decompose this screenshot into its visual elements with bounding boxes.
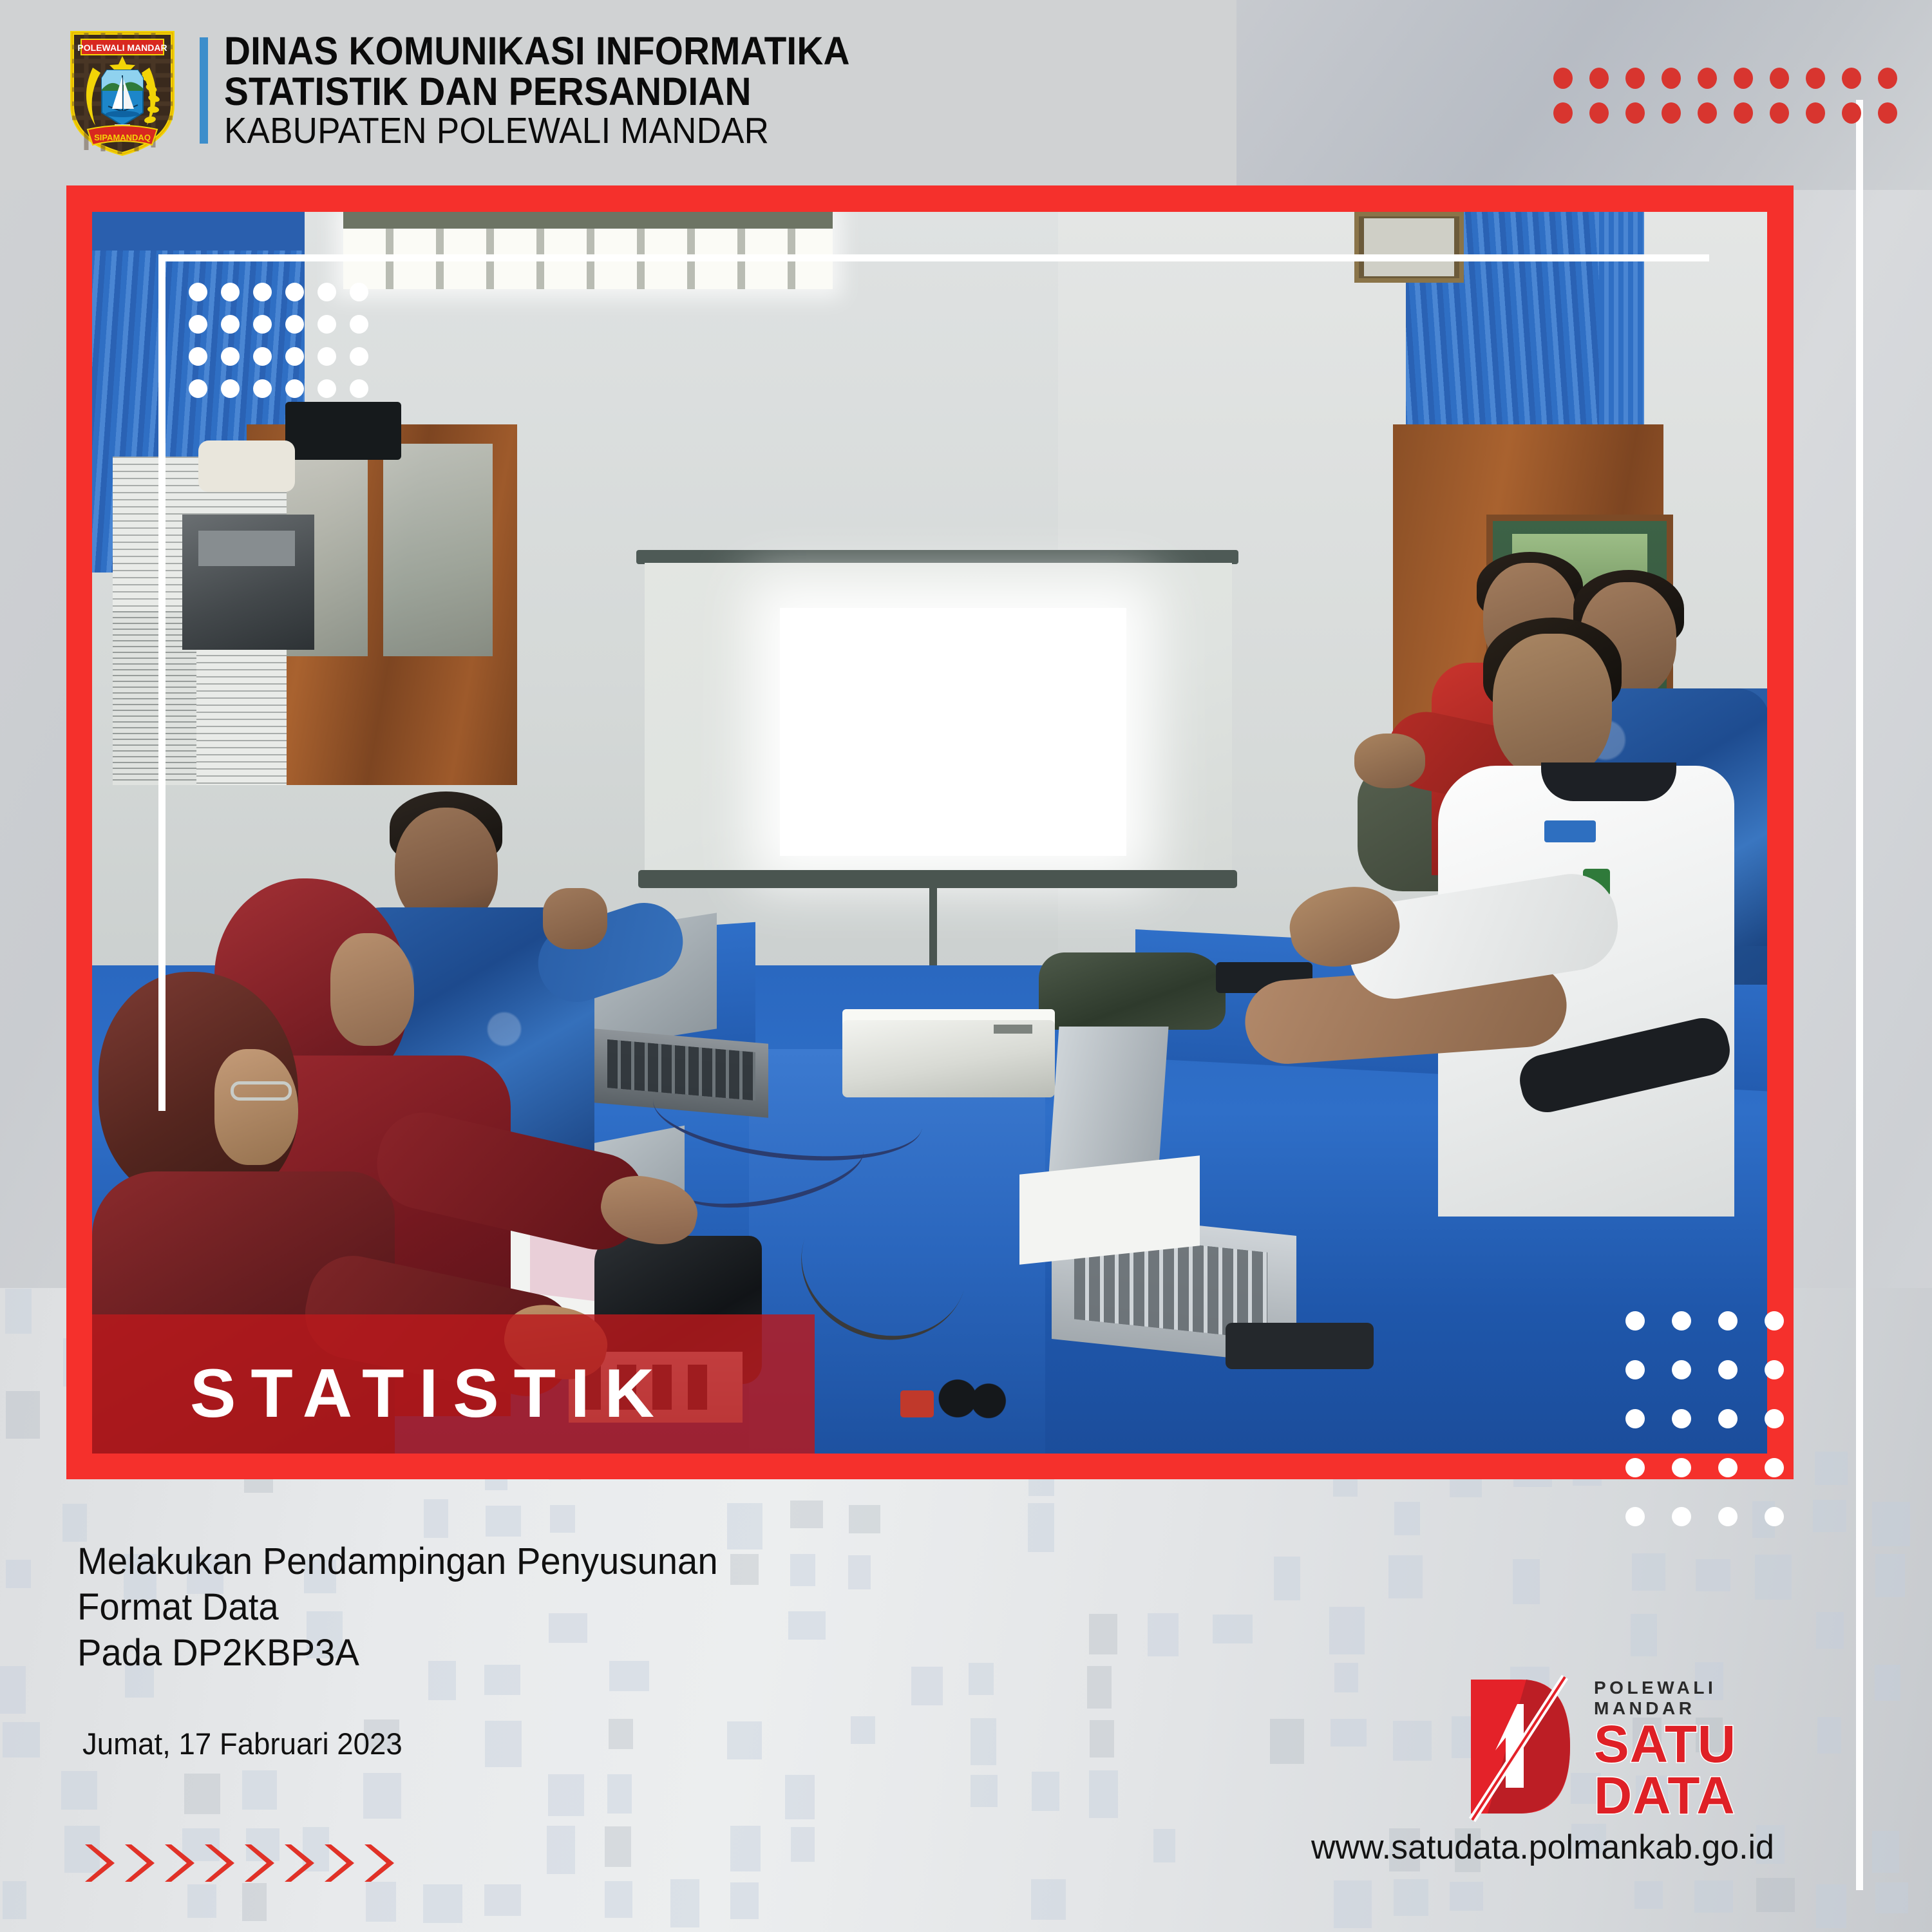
background-square bbox=[1450, 1882, 1483, 1911]
chevron-right-icon bbox=[322, 1843, 358, 1883]
photo-corner-dot bbox=[350, 283, 368, 301]
chevron-right-icon bbox=[362, 1843, 398, 1883]
background-square bbox=[911, 1667, 943, 1705]
bottom-right-dot bbox=[1765, 1409, 1784, 1428]
header-title-block: DINAS KOMUNIKASI INFORMATIKA STATISTIK D… bbox=[224, 31, 897, 150]
header-dot bbox=[1806, 68, 1825, 89]
background-square bbox=[785, 1775, 815, 1819]
background-square bbox=[1274, 1557, 1300, 1600]
background-square bbox=[548, 1774, 584, 1816]
photo-corner-dot bbox=[221, 347, 240, 366]
header-dot bbox=[1589, 68, 1609, 89]
header-dot bbox=[1770, 68, 1789, 89]
background-square bbox=[423, 1884, 462, 1923]
background-square bbox=[1696, 1559, 1730, 1591]
header-dot bbox=[1589, 102, 1609, 124]
bottom-right-dot bbox=[1718, 1507, 1738, 1526]
background-square bbox=[1875, 1554, 1905, 1597]
photo-corner-dot bbox=[189, 347, 207, 366]
background-square bbox=[1632, 1553, 1665, 1591]
bottom-right-dot bbox=[1672, 1458, 1691, 1477]
background-square bbox=[605, 1826, 631, 1867]
header-dot bbox=[1734, 68, 1753, 89]
photo-corner-dot bbox=[221, 283, 240, 301]
background-square bbox=[727, 1721, 762, 1759]
background-square bbox=[1631, 1614, 1657, 1656]
category-badge-label: STATISTIK bbox=[92, 1353, 669, 1433]
background-square bbox=[363, 1773, 401, 1819]
background-square bbox=[550, 1505, 575, 1533]
background-square bbox=[730, 1826, 761, 1871]
photo-curtain-left-top bbox=[92, 212, 305, 251]
satu-data-logo: POLEWALI MANDAR SATU DATA bbox=[1462, 1674, 1823, 1842]
bottom-right-dot bbox=[1718, 1360, 1738, 1379]
photo-corner-dot bbox=[189, 315, 207, 334]
background-square bbox=[1032, 1772, 1059, 1811]
website-url: www.satudata.polmankab.go.id bbox=[1311, 1828, 1774, 1867]
background-square bbox=[1393, 1721, 1432, 1761]
background-square bbox=[1872, 1831, 1899, 1873]
satu-data-mark-icon bbox=[1462, 1674, 1578, 1823]
photo-corner-dot bbox=[253, 379, 272, 398]
bottom-right-dot bbox=[1765, 1507, 1784, 1526]
photo-corner-dot bbox=[285, 283, 304, 301]
bottom-right-dot bbox=[1672, 1507, 1691, 1526]
background-square bbox=[1394, 1502, 1420, 1535]
background-square bbox=[1388, 1555, 1423, 1598]
background-square bbox=[788, 1611, 826, 1640]
event-caption: Melakukan Pendampingan Penyusunan Format… bbox=[77, 1539, 718, 1676]
photo-corner-dot bbox=[350, 347, 368, 366]
background-square bbox=[730, 1554, 759, 1585]
background-square bbox=[1755, 1555, 1792, 1600]
background-square bbox=[424, 1499, 448, 1538]
bottom-right-dot bbox=[1625, 1409, 1645, 1428]
header-dot bbox=[1625, 102, 1645, 124]
background-square bbox=[607, 1774, 632, 1814]
photo-inner-white-border bbox=[158, 254, 1709, 1111]
polewali-mandar-crest-icon: POLEWALI MANDAR SIPAMANDAQ bbox=[67, 28, 178, 156]
bottom-right-dot bbox=[1672, 1311, 1691, 1331]
background-square bbox=[62, 1504, 87, 1542]
background-square bbox=[1756, 1878, 1795, 1912]
background-square bbox=[3, 1881, 26, 1919]
background-square bbox=[1334, 1663, 1358, 1692]
photo-corner-dot bbox=[350, 315, 368, 334]
background-square bbox=[1813, 1500, 1846, 1532]
background-square bbox=[790, 1554, 815, 1586]
background-square bbox=[184, 1774, 220, 1814]
bottom-right-dot bbox=[1625, 1360, 1645, 1379]
background-square bbox=[1815, 1452, 1848, 1485]
header-dot bbox=[1806, 102, 1825, 124]
background-square bbox=[1872, 1502, 1910, 1546]
background-square bbox=[609, 1719, 633, 1749]
photo-corner-dot bbox=[285, 379, 304, 398]
background-square bbox=[1148, 1613, 1179, 1656]
background-square bbox=[969, 1663, 994, 1695]
bottom-right-dot bbox=[1625, 1311, 1645, 1331]
header-dot bbox=[1842, 102, 1861, 124]
bottom-right-dot bbox=[1765, 1311, 1784, 1331]
background-square bbox=[1090, 1720, 1114, 1757]
background-square bbox=[1329, 1607, 1365, 1654]
header-dot bbox=[1553, 68, 1573, 89]
header-dot bbox=[1625, 68, 1645, 89]
header-dot bbox=[1698, 102, 1717, 124]
background-square bbox=[1270, 1719, 1304, 1764]
photo-corner-dot bbox=[221, 315, 240, 334]
event-date: Jumat, 17 Fabruari 2023 bbox=[82, 1726, 402, 1761]
header-dot bbox=[1662, 102, 1681, 124]
bottom-right-dot bbox=[1625, 1507, 1645, 1526]
photo-corner-dot bbox=[317, 315, 336, 334]
satu-data-word-satu: SATU bbox=[1594, 1719, 1823, 1770]
background-square bbox=[1394, 1879, 1428, 1916]
chevron-right-icon bbox=[122, 1843, 158, 1883]
background-square bbox=[848, 1555, 871, 1589]
photo-corner-dot bbox=[253, 283, 272, 301]
background-square bbox=[1513, 1559, 1540, 1604]
background-square bbox=[971, 1718, 996, 1765]
photo-corner-dot-grid bbox=[189, 283, 382, 412]
photo-corner-dot bbox=[189, 283, 207, 301]
bottom-right-dot bbox=[1672, 1409, 1691, 1428]
bottom-right-dot bbox=[1718, 1409, 1738, 1428]
background-square bbox=[6, 1391, 40, 1439]
background-square bbox=[1331, 1719, 1367, 1747]
background-square bbox=[485, 1721, 522, 1767]
header-line-1: DINAS KOMUNIKASI INFORMATIKA bbox=[224, 31, 850, 71]
satu-data-wordmark: POLEWALI MANDAR SATU DATA bbox=[1594, 1678, 1823, 1823]
header-dot bbox=[1878, 68, 1897, 89]
background-square bbox=[0, 1666, 26, 1714]
bottom-right-dot-grid bbox=[1625, 1311, 1811, 1556]
photo-corner-dot bbox=[317, 379, 336, 398]
background-square bbox=[670, 1879, 699, 1927]
background-square bbox=[1694, 1880, 1733, 1913]
background-square bbox=[851, 1716, 875, 1744]
bottom-right-dot bbox=[1672, 1360, 1691, 1379]
photo-corner-dot bbox=[253, 347, 272, 366]
photo-corner-dot bbox=[189, 379, 207, 398]
background-square bbox=[484, 1884, 521, 1916]
background-square bbox=[849, 1505, 880, 1533]
background-square bbox=[730, 1882, 759, 1919]
header-dot bbox=[1770, 102, 1789, 124]
photo-corner-dot bbox=[285, 315, 304, 334]
svg-text:POLEWALI MANDAR: POLEWALI MANDAR bbox=[77, 43, 167, 53]
background-square bbox=[366, 1882, 396, 1922]
background-square bbox=[1028, 1503, 1054, 1552]
photo-corner-dot bbox=[317, 347, 336, 366]
header-dot bbox=[1734, 102, 1753, 124]
background-square bbox=[1875, 1882, 1908, 1913]
background-square bbox=[727, 1503, 762, 1549]
header-dot bbox=[1878, 102, 1897, 124]
background-square bbox=[1089, 1614, 1117, 1654]
event-photo: STATISTIK bbox=[92, 212, 1767, 1454]
chevron-right-icon bbox=[82, 1843, 118, 1883]
photo-corner-dot bbox=[221, 379, 240, 398]
header-line-2: STATISTIK DAN PERSANDIAN bbox=[224, 71, 850, 112]
header-dot bbox=[1553, 102, 1573, 124]
background-square bbox=[61, 1771, 97, 1810]
bottom-right-dot bbox=[1765, 1458, 1784, 1477]
photo-corner-dot bbox=[317, 283, 336, 301]
background-square bbox=[1087, 1666, 1112, 1709]
background-square bbox=[1153, 1829, 1175, 1862]
header-dot bbox=[1662, 68, 1681, 89]
header-dot-grid bbox=[1553, 68, 1914, 137]
photo-corner-dot bbox=[350, 379, 368, 398]
photo-frame: STATISTIK bbox=[66, 185, 1794, 1479]
header-dot bbox=[1698, 68, 1717, 89]
bottom-right-dot bbox=[1718, 1311, 1738, 1331]
right-vertical-rule bbox=[1856, 100, 1863, 1890]
background-square bbox=[1634, 1881, 1663, 1909]
category-badge: STATISTIK bbox=[92, 1314, 815, 1454]
photo-phone-near bbox=[1226, 1323, 1374, 1369]
background-square bbox=[1213, 1615, 1253, 1643]
satu-data-superlabel: POLEWALI MANDAR bbox=[1594, 1678, 1823, 1719]
background-square bbox=[1334, 1880, 1372, 1928]
background-square bbox=[3, 1722, 40, 1757]
chevron-right-icon bbox=[282, 1843, 318, 1883]
background-square bbox=[242, 1883, 267, 1921]
background-square bbox=[6, 1560, 31, 1588]
photo-corner-dot bbox=[253, 315, 272, 334]
header-accent-bar bbox=[200, 37, 208, 144]
bottom-right-dot bbox=[1718, 1458, 1738, 1477]
chevron-right-icon bbox=[162, 1843, 198, 1883]
background-square bbox=[547, 1826, 575, 1874]
chevron-right-icon bbox=[202, 1843, 238, 1883]
bottom-right-dot bbox=[1765, 1360, 1784, 1379]
background-square bbox=[1089, 1770, 1118, 1818]
header-dot bbox=[1842, 68, 1861, 89]
background-square bbox=[1816, 1612, 1844, 1649]
photo-window-frame bbox=[343, 212, 833, 229]
background-square bbox=[791, 1827, 815, 1862]
background-square bbox=[486, 1506, 521, 1537]
chevron-arrows-decoration bbox=[82, 1843, 398, 1883]
background-square bbox=[1031, 1879, 1066, 1920]
bottom-right-dot bbox=[1625, 1458, 1645, 1477]
background-square bbox=[187, 1884, 216, 1918]
background-square bbox=[605, 1881, 632, 1918]
photo-corner-dot bbox=[285, 347, 304, 366]
background-square bbox=[1875, 1665, 1900, 1701]
background-square bbox=[242, 1770, 277, 1810]
page-header: POLEWALI MANDAR SIPAMANDAQ DINAS KOMUNIK… bbox=[0, 0, 1932, 190]
background-square bbox=[1816, 1884, 1846, 1928]
photo-paper-right bbox=[1019, 1155, 1200, 1264]
chevron-right-icon bbox=[242, 1843, 278, 1883]
svg-text:SIPAMANDAQ: SIPAMANDAQ bbox=[94, 133, 151, 142]
background-square bbox=[971, 1775, 998, 1807]
photo-key-fob bbox=[900, 1390, 934, 1417]
satu-data-word-data: DATA bbox=[1594, 1770, 1823, 1822]
header-line-3: KABUPATEN POLEWALI MANDAR bbox=[224, 112, 850, 150]
background-square bbox=[790, 1501, 823, 1528]
background-square bbox=[5, 1289, 32, 1334]
